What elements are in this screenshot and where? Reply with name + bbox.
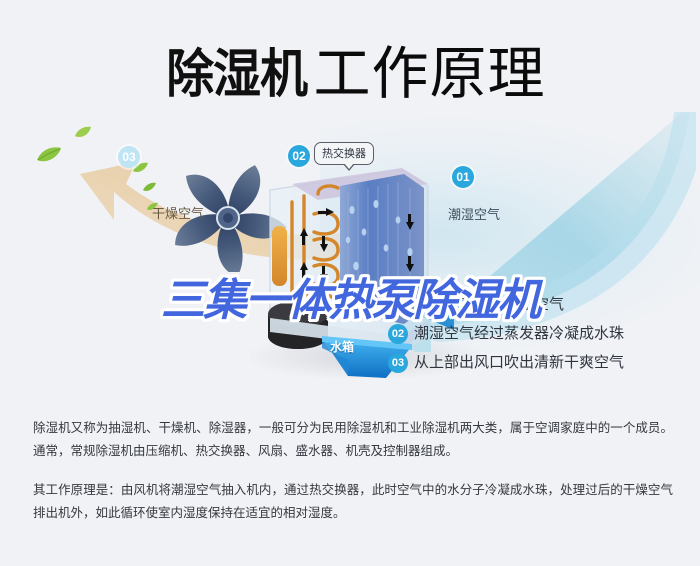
paragraph-1: 除湿机又称为抽湿机、干燥机、除湿器，一般可分为民用除湿机和工业除湿机两大类，属于… [33, 416, 673, 462]
dry-air-label: 干燥空气 [152, 203, 204, 222]
leaf-icon [74, 126, 92, 139]
leaf-icon [36, 146, 62, 164]
badge-02: 02 [288, 145, 310, 167]
page-title: 除湿机工作原理 [0, 28, 700, 110]
list-item: 03 从上部出风口吹出清新干爽空气 [388, 351, 688, 380]
badge-01: 01 [452, 166, 474, 188]
badge-03: 03 [118, 146, 140, 168]
heat-exchanger-callout: 热交换器 [314, 142, 374, 165]
moist-air-label: 潮湿空气 [448, 204, 500, 223]
paragraph-2: 其工作原理是：由风机将潮湿空气抽入机内，通过热交换器，此时空气中的水分子冷凝成水… [33, 478, 673, 524]
page-title-part2: 工作原理 [314, 28, 546, 110]
leaf-icon [142, 182, 157, 193]
body-copy: 除湿机又称为抽湿机、干燥机、除湿器，一般可分为民用除湿机和工业除湿机两大类，属于… [33, 416, 673, 540]
page-title-part1: 除湿机 [167, 32, 308, 107]
watermark-text: 三集一体热泵除湿机 [161, 275, 539, 326]
page-root: 除湿机工作原理 [0, 0, 700, 566]
step-text: 从上部出风口吹出清新干爽空气 [414, 351, 624, 372]
step-number: 03 [388, 353, 408, 373]
watermark: 三集一体热泵除湿机 [0, 264, 700, 328]
water-tank-label: 水箱 [330, 338, 354, 355]
